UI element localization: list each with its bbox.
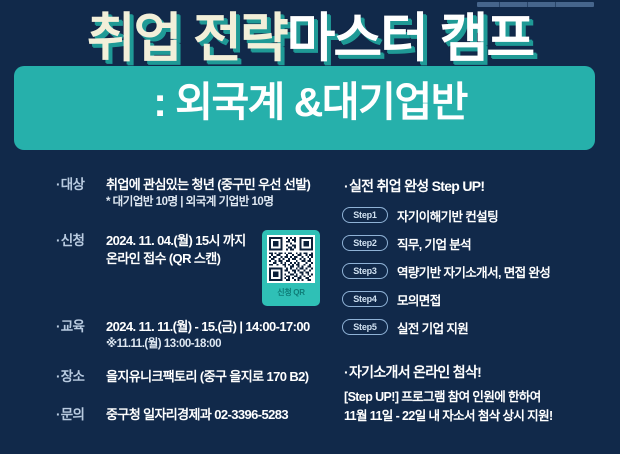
title-part-1: 취업 전략 — [87, 9, 287, 68]
step-text: 직무, 기업 분석 — [388, 234, 620, 253]
list-item: Step1 자기이해기반 컨설팅 — [342, 202, 620, 228]
step-badge: Step5 — [342, 319, 388, 335]
poster-header: 취업 전략마스터 캠프 : 외국계 &대기업반 — [0, 0, 620, 160]
poster-content: 대상 취업에 관심있는 청년 (중구민 우선 선발) * 대기업반 10명 | … — [0, 160, 620, 454]
qr-caption: 신청 QR — [262, 287, 320, 298]
place-line-1: 을지유니크팩토리 (중구 을지로 170 B2) — [106, 368, 309, 386]
list-item: Step5 실전 기업 지원 — [342, 314, 620, 340]
info-label-education: 교육 — [56, 318, 100, 335]
review-heading: 자기소개서 온라인 첨삭! — [344, 362, 481, 382]
step-text: 실전 기업 지원 — [388, 318, 620, 337]
info-body-place: 을지유니크팩토리 (중구 을지로 170 B2) — [100, 368, 309, 386]
info-body-contact: 중구청 일자리경제과 02-3396-5283 — [100, 406, 288, 424]
step-badge: Step3 — [342, 263, 388, 279]
qr-code-block[interactable]: 신청 QR — [262, 230, 320, 306]
apply-line-1: 2024. 11. 04.(월) 15시 까지 — [106, 232, 246, 250]
info-row-place: 장소 을지유니크팩토리 (중구 을지로 170 B2) — [56, 368, 309, 386]
review-note-line-2: 11월 11일 - 22일 내 자소서 첨삭 상시 지원! — [344, 407, 620, 426]
info-row-education: 교육 2024. 11. 11.(월) - 15.(금) | 14:00-17:… — [56, 318, 310, 353]
info-row-apply: 신청 2024. 11. 04.(월) 15시 까지 온라인 접수 (QR 스캔… — [56, 232, 246, 268]
info-row-contact: 문의 중구청 일자리경제과 02-3396-5283 — [56, 406, 288, 424]
step-badge: Step1 — [342, 207, 388, 223]
qr-code-image[interactable] — [267, 235, 315, 283]
info-label-contact: 문의 — [56, 406, 100, 423]
info-label-apply: 신청 — [56, 232, 100, 249]
review-note-line-1: [Step UP!] 프로그램 참여 인원에 한하여 — [344, 388, 620, 407]
stepup-heading: 실전 취업 완성 Step UP! — [344, 176, 484, 196]
apply-line-2: 온라인 접수 (QR 스캔) — [106, 250, 246, 268]
target-line-2: * 대기업반 10명 | 외국계 기업반 10명 — [106, 194, 310, 211]
list-item: Step3 역량기반 자기소개서, 면접 완성 — [342, 258, 620, 284]
step-text: 모의면접 — [388, 290, 620, 309]
info-body-education: 2024. 11. 11.(월) - 15.(금) | 14:00-17:00 … — [100, 318, 310, 353]
list-item: Step2 직무, 기업 분석 — [342, 230, 620, 256]
list-item: Step4 모의면접 — [342, 286, 620, 312]
info-label-target: 대상 — [56, 176, 100, 193]
step-badge: Step4 — [342, 291, 388, 307]
info-body-target: 취업에 관심있는 청년 (중구민 우선 선발) * 대기업반 10명 | 외국계… — [100, 176, 310, 211]
title-part-2: 마스터 캠프 — [287, 9, 534, 68]
program-column: 실전 취업 완성 Step UP! Step1 자기이해기반 컨설팅 Step2… — [330, 160, 620, 454]
page-subtitle: : 외국계 &대기업반 — [0, 82, 620, 123]
info-body-apply: 2024. 11. 04.(월) 15시 까지 온라인 접수 (QR 스캔) — [100, 232, 246, 268]
step-text: 자기이해기반 컨설팅 — [388, 206, 620, 225]
step-badge: Step2 — [342, 235, 388, 251]
step-list: Step1 자기이해기반 컨설팅 Step2 직무, 기업 분석 Step3 역… — [342, 202, 620, 342]
info-label-place: 장소 — [56, 368, 100, 385]
target-line-1: 취업에 관심있는 청년 (중구민 우선 선발) — [106, 176, 310, 194]
info-row-target: 대상 취업에 관심있는 청년 (중구민 우선 선발) * 대기업반 10명 | … — [56, 176, 310, 211]
education-line-2: ※11.11.(월) 13:00-18:00 — [106, 336, 310, 353]
details-column: 대상 취업에 관심있는 청년 (중구민 우선 선발) * 대기업반 10명 | … — [0, 160, 330, 454]
step-text: 역량기반 자기소개서, 면접 완성 — [388, 262, 620, 281]
contact-line-1: 중구청 일자리경제과 02-3396-5283 — [106, 406, 288, 424]
education-line-1: 2024. 11. 11.(월) - 15.(금) | 14:00-17:00 — [106, 318, 310, 336]
review-note: [Step UP!] 프로그램 참여 인원에 한하여 11월 11일 - 22일… — [344, 388, 620, 426]
page-title: 취업 전략마스터 캠프 — [0, 12, 620, 65]
